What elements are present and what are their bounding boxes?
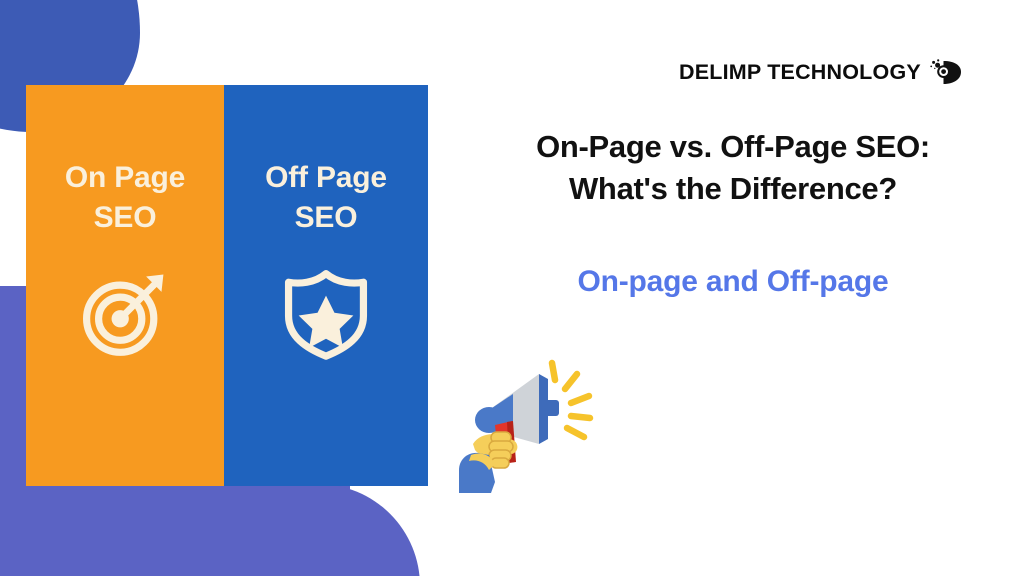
target-arrow-icon: [77, 262, 173, 362]
panel-off-page-title: Off Page SEO: [265, 158, 387, 238]
brand-lockup: DELIMP TECHNOLOGY: [679, 55, 964, 89]
page-title: On-Page vs. Off-Page SEO: What's the Dif…: [478, 126, 988, 209]
page-subtitle: On-page and Off-page: [478, 265, 988, 299]
shield-star-icon: [278, 262, 374, 362]
brand-name: DELIMP TECHNOLOGY: [679, 60, 921, 85]
panel-on-page-seo: On Page SEO: [26, 85, 224, 486]
seo-comparison-panels: On Page SEO Off Page SEO: [26, 85, 428, 486]
panel-off-page-seo: Off Page SEO: [224, 85, 428, 486]
delimp-d-particles-icon: [930, 55, 964, 89]
decorative-shape-bottom-rounded: [0, 484, 420, 576]
megaphone-icon: [455, 358, 605, 493]
slide-canvas: On Page SEO Off Page SEO: [0, 0, 1024, 576]
panel-on-page-title: On Page SEO: [65, 158, 185, 238]
